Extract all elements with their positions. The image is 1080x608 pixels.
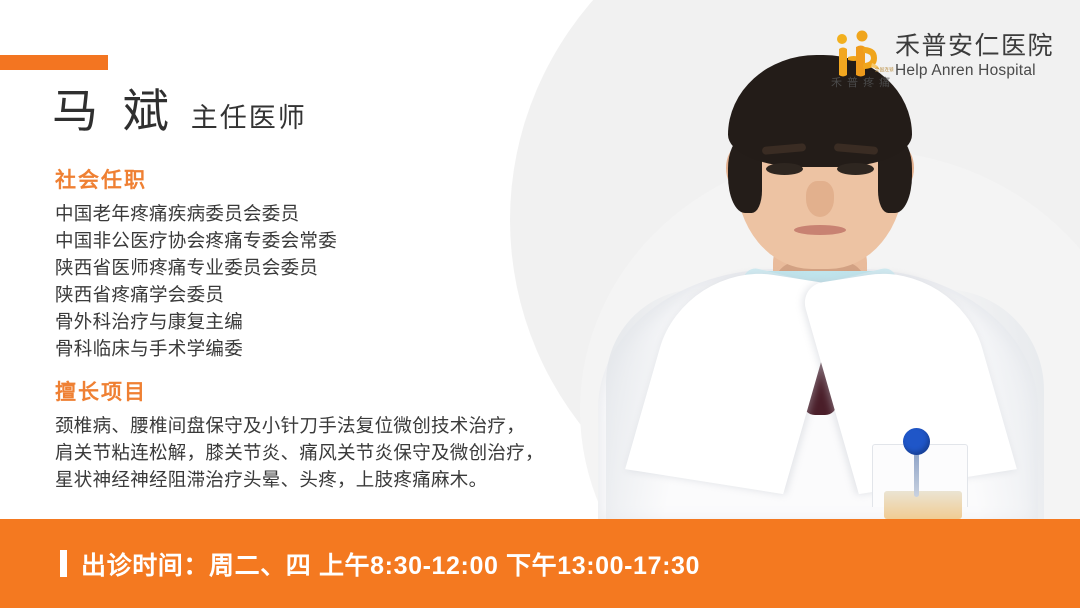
specialties-heading: 擅长项目 — [55, 380, 544, 405]
list-item: 陕西省疼痛学会委员 — [55, 281, 337, 308]
hospital-logo-wordmark: 禾普安仁医院 Help Anren Hospital — [895, 27, 1054, 79]
list-item: 中国老年疼痛疾病委员会委员 — [55, 200, 337, 227]
doctor-title: 主任医师 — [191, 105, 307, 132]
clinic-hours-banner: 出诊时间：周二、四 上午8:30-12:00 下午13:00-17:30 — [0, 519, 1080, 608]
eye-right — [837, 163, 874, 175]
list-item: 陕西省医师疼痛专业委员会委员 — [55, 254, 337, 281]
logo-micro-text: 全国连锁 — [875, 67, 894, 73]
hospital-logo-icon: 全国连锁 禾 普 疼 痛 — [829, 27, 891, 89]
list-item: 中国非公医疗协会疼痛专委会常委 — [55, 227, 337, 254]
list-item: 星状神经神经阻滞治疗头晕、头疼，上肢疼痛麻木。 — [55, 466, 544, 493]
doctor-info-panel: 马 斌 主任医师 社会任职 中国老年疼痛疾病委员会委员 中国非公医疗协会疼痛专委… — [0, 0, 620, 519]
clinic-hours-text: 出诊时间：周二、四 上午8:30-12:00 下午13:00-17:30 — [81, 546, 700, 582]
id-badge-card — [884, 491, 962, 519]
banner-tick-marker — [60, 550, 67, 577]
nose — [806, 181, 834, 217]
eye-left — [766, 163, 803, 175]
social-positions-list: 中国老年疼痛疾病委员会委员 中国非公医疗协会疼痛专委会常委 陕西省医师疼痛专业委… — [55, 200, 337, 362]
specialties-list: 颈椎病、腰椎间盘保守及小针刀手法复位微创技术治疗， 肩关节粘连松解，膝关节炎、痛… — [55, 412, 544, 493]
hospital-name-cn: 禾普安仁医院 — [895, 33, 1054, 59]
mouth — [794, 225, 846, 235]
accent-bar — [0, 55, 108, 70]
doctor-name: 马 斌 — [52, 88, 175, 134]
badge-reel-cord — [914, 453, 919, 497]
doctor-name-row: 马 斌 主任医师 — [52, 88, 307, 134]
logo-subtitle-cn: 禾 普 疼 痛 — [831, 74, 891, 90]
doctor-profile-card: 全国连锁 禾 普 疼 痛 禾普安仁医院 Help Anren Hospital … — [0, 0, 1080, 608]
list-item: 骨科临床与手术学编委 — [55, 335, 337, 362]
list-item: 颈椎病、腰椎间盘保守及小针刀手法复位微创技术治疗， — [55, 412, 544, 439]
specialties-section: 擅长项目 颈椎病、腰椎间盘保守及小针刀手法复位微创技术治疗， 肩关节粘连松解，膝… — [55, 380, 544, 493]
social-positions-section: 社会任职 中国老年疼痛疾病委员会委员 中国非公医疗协会疼痛专委会常委 陕西省医师… — [55, 168, 337, 362]
badge-reel-clip — [903, 428, 930, 455]
list-item: 肩关节粘连松解，膝关节炎、痛风关节炎保守及微创治疗， — [55, 439, 544, 466]
hospital-logo: 全国连锁 禾 普 疼 痛 禾普安仁医院 Help Anren Hospital — [829, 27, 1054, 89]
social-positions-heading: 社会任职 — [55, 168, 337, 193]
hospital-name-en: Help Anren Hospital — [895, 62, 1036, 79]
list-item: 骨外科治疗与康复主编 — [55, 308, 337, 335]
